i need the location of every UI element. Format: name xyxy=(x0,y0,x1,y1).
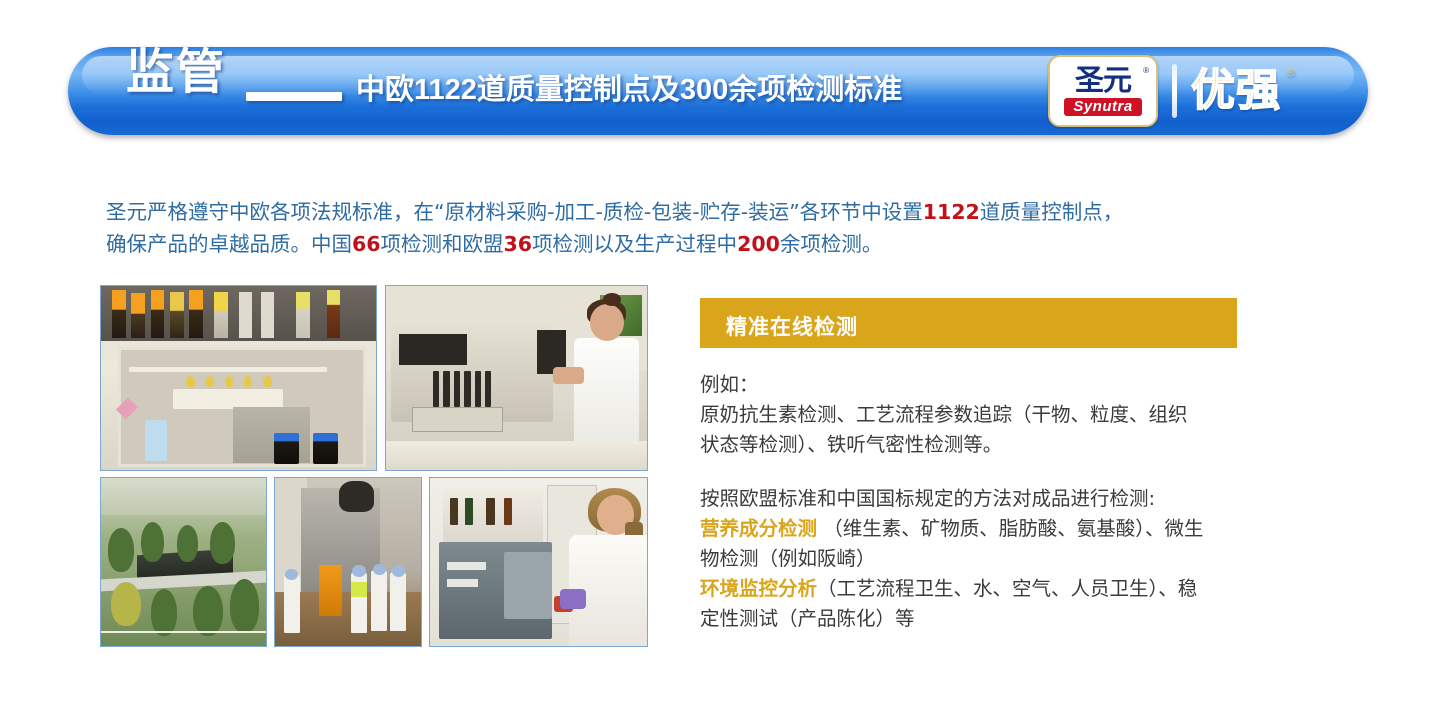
nutrition-test-label: 营养成分检测 xyxy=(700,517,817,540)
photo-grid xyxy=(100,285,648,647)
section-heading-label: 精准在线检测 xyxy=(726,311,858,341)
banner-dash-rule xyxy=(246,92,342,101)
lead-number-36: 36 xyxy=(504,232,533,256)
logo-tagline: 优强 ® xyxy=(1191,69,1281,113)
logo-brand-chinese: 圣元 xyxy=(1075,66,1131,95)
logo-badge: ® 圣元 Synutra xyxy=(1048,55,1158,127)
examples-line-3: 状态等检测）、铁听气密性检测等。 xyxy=(700,433,1002,456)
banner-title: 监管 xyxy=(126,49,226,97)
standards-intro: 按照欧盟标准和中国国标规定的方法对成品进行检测: xyxy=(700,487,1155,510)
lead-number-1122: 1122 xyxy=(923,200,980,224)
logo-tagline-registered-mark: ® xyxy=(1285,67,1297,78)
brand-logo: ® 圣元 Synutra 优强 ® xyxy=(1048,51,1316,131)
microbe-test-line: 物检测（例如阪崎） xyxy=(700,547,876,570)
examples-line-2: 原奶抗生素检测、工艺流程参数追踪（干物、粒度、组织 xyxy=(700,403,1188,426)
photo-production-plant-workers xyxy=(274,477,422,647)
lead-number-200: 200 xyxy=(737,232,780,256)
lead-line1-part-b: 道质量控制点， xyxy=(980,200,1124,224)
environment-monitoring-label: 环境监控分析 xyxy=(700,577,817,600)
examples-intro: 例如： xyxy=(700,373,759,396)
stability-test-line: 定性测试（产品陈化）等 xyxy=(700,607,915,630)
photo-automated-analyzer-technician xyxy=(385,285,648,471)
examples-paragraph: 例如： 原奶抗生素检测、工艺流程参数追踪（干物、粒度、组织 状态等检测）、铁听气… xyxy=(700,370,1320,460)
logo-tagline-text: 优强 xyxy=(1191,65,1281,116)
nutrition-test-detail: （维生素、矿物质、脂肪酸、氨基酸）、微生 xyxy=(823,517,1203,540)
lead-line2-part-d: 余项检测。 xyxy=(780,232,883,256)
lead-paragraph: 圣元严格遵守中欧各项法规标准，在“原材料采购-加工-质检-包装-贮存-装运”各环… xyxy=(106,196,1316,260)
lead-line2-part-c: 项检测以及生产过程中 xyxy=(532,232,737,256)
photo-instrument-operator-scientist xyxy=(429,477,648,647)
lead-line1-part-a: 圣元严格遵守中欧各项法规标准，在“原材料采购-加工-质检-包装-贮存-装运”各环… xyxy=(106,200,923,224)
logo-divider xyxy=(1172,64,1177,118)
logo-brand-latin: Synutra xyxy=(1064,98,1141,117)
photo-factory-aerial-greenery xyxy=(100,477,267,647)
lead-line2-part-b: 项检测和欧盟 xyxy=(381,232,504,256)
section-heading-bar: 精准在线检测 xyxy=(700,298,1237,348)
standards-paragraph: 按照欧盟标准和中国国标规定的方法对成品进行检测: 营养成分检测 （维生素、矿物质… xyxy=(700,484,1348,634)
banner-subtitle: 中欧1122道质量控制点及300余项检测标准 xyxy=(356,76,902,105)
lead-number-66: 66 xyxy=(352,232,381,256)
logo-registered-mark: ® xyxy=(1143,66,1149,75)
photo-lab-fume-hood-reagents xyxy=(100,285,377,471)
environment-monitoring-detail: （工艺流程卫生、水、空气、人员卫生）、稳 xyxy=(817,577,1197,600)
lead-line2-part-a: 确保产品的卓越品质。中国 xyxy=(106,232,352,256)
